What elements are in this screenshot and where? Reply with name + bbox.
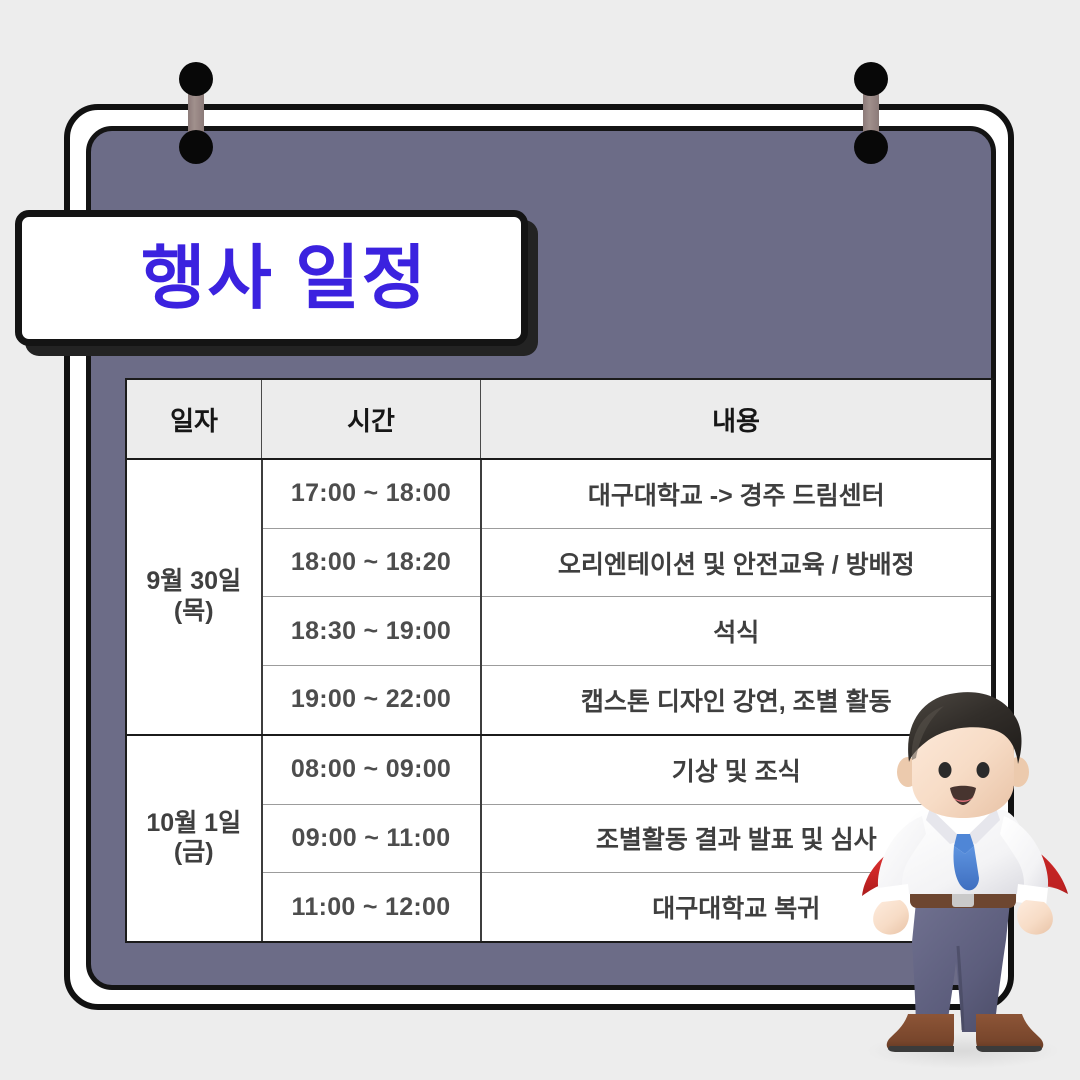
- column-header-detail: 내용: [481, 379, 993, 459]
- superhero-businessman-mascot: [846, 688, 1080, 1080]
- column-header-date: 일자: [126, 379, 262, 459]
- hanging-pin-right: [848, 62, 894, 162]
- title-plate: 행사 일정: [15, 210, 539, 356]
- table-head: 일자 시간 내용: [126, 379, 992, 459]
- eye-left: [939, 762, 952, 778]
- table-row: 9월 30일 (목) 17:00 ~ 18:00 대구대학교 -> 경주 드림센…: [126, 459, 992, 528]
- time-cell: 19:00 ~ 22:00: [262, 665, 481, 734]
- poster-stage: 행사 일정 일자 시간 내용 9월 30일 (목) 17:00 ~ 18:00 …: [0, 0, 1080, 1080]
- time-cell: 18:30 ~ 19:00: [262, 597, 481, 665]
- head: [897, 692, 1029, 818]
- date-cell-group-1: 10월 1일 (금): [126, 735, 262, 942]
- pants: [912, 902, 1010, 1032]
- time-cell: 11:00 ~ 12:00: [262, 873, 481, 942]
- title-plate-box: 행사 일정: [15, 210, 528, 346]
- table-header-row: 일자 시간 내용: [126, 379, 992, 459]
- time-cell: 08:00 ~ 09:00: [262, 735, 481, 804]
- pin-knob-bottom: [854, 130, 888, 164]
- hanging-pin-left: [173, 62, 219, 162]
- time-cell: 18:00 ~ 18:20: [262, 528, 481, 596]
- time-cell: 09:00 ~ 11:00: [262, 804, 481, 872]
- detail-cell: 석식: [481, 597, 993, 665]
- pin-knob-top: [854, 62, 888, 96]
- pin-knob-bottom: [179, 130, 213, 164]
- date-cell-group-0: 9월 30일 (목): [126, 459, 262, 735]
- eye-right: [977, 762, 990, 778]
- page-title: 행사 일정: [115, 243, 428, 313]
- pin-knob-top: [179, 62, 213, 96]
- column-header-time: 시간: [262, 379, 481, 459]
- time-cell: 17:00 ~ 18:00: [262, 459, 481, 528]
- detail-cell: 대구대학교 -> 경주 드림센터: [481, 459, 993, 528]
- detail-cell: 오리엔테이션 및 안전교육 / 방배정: [481, 528, 993, 596]
